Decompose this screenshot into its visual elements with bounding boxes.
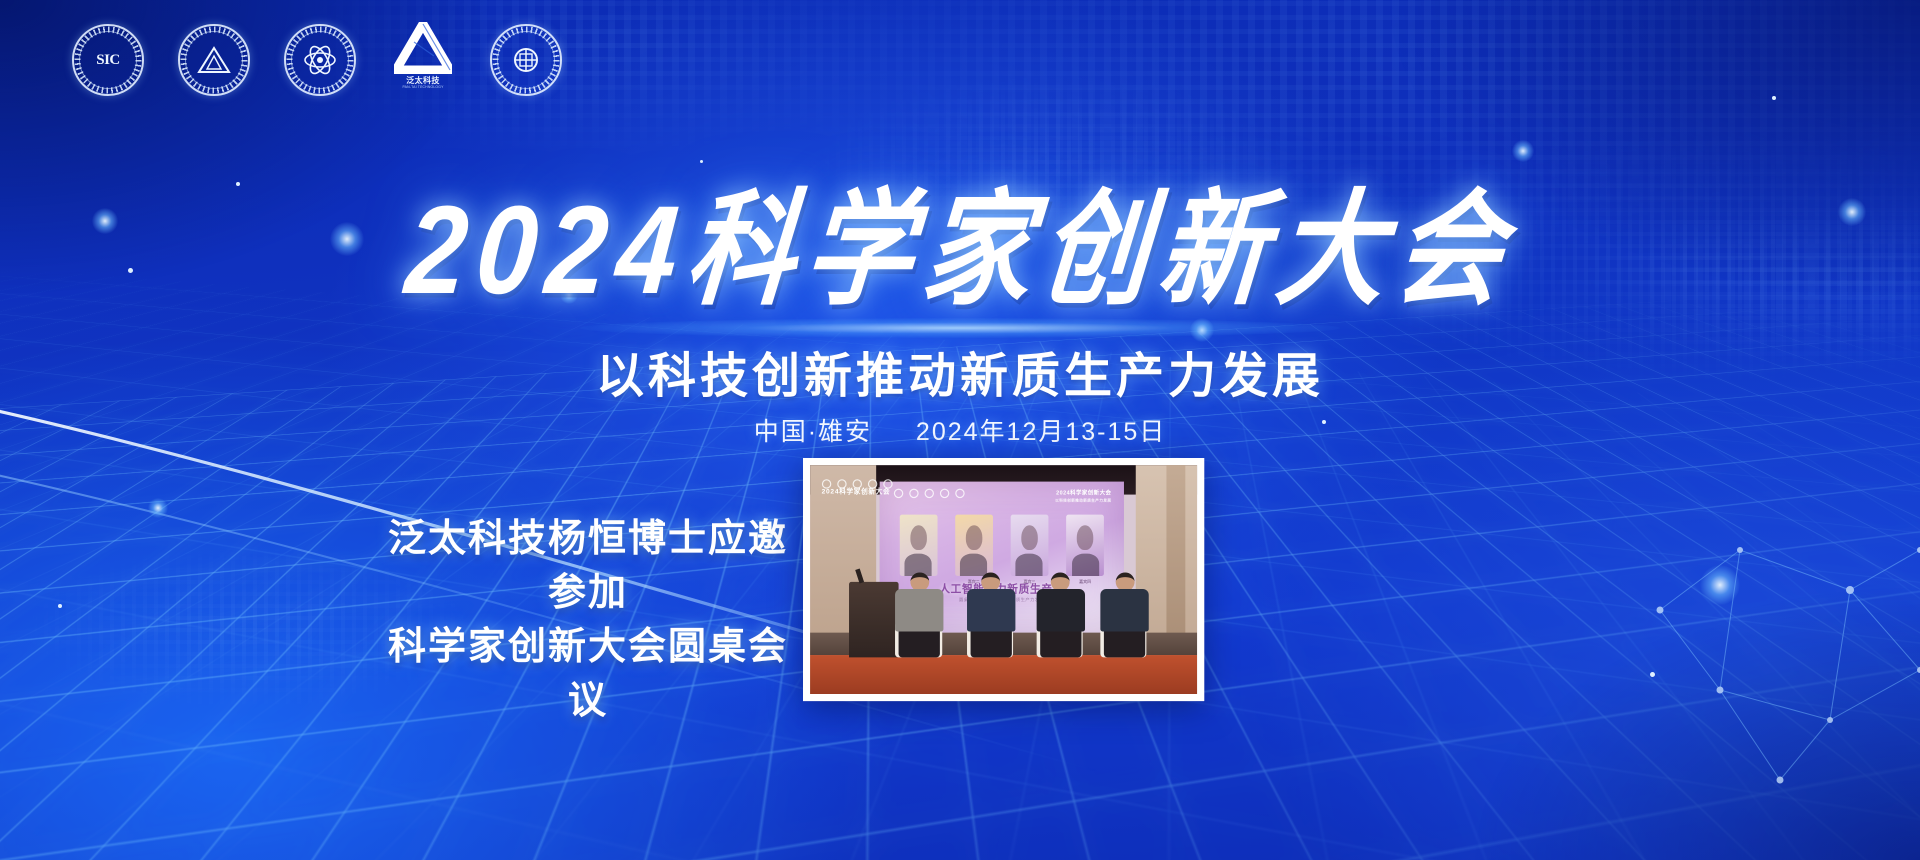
seal-logo-triangle-icon: [176, 22, 252, 98]
triangle-logo-label: 泛太科技: [406, 77, 440, 85]
triangle-logo-sanlitros-icon: 泛太科技 PAN-TAI TECHNOLOGY: [388, 22, 458, 98]
photo-person-legs: [1104, 631, 1146, 657]
photo-panelist-image: [955, 514, 993, 575]
page-title: 2024科学家创新大会: [401, 187, 1518, 312]
photo-person-legs: [970, 631, 1012, 657]
particle-dot: [236, 182, 240, 186]
caption-line-1: 泛太科技杨恒博士应邀参加: [378, 513, 798, 621]
particle-glow: [1512, 140, 1534, 162]
event-meta: 中国·雄安 2024年12月13-15日: [0, 412, 1920, 448]
triangle-logo-sublabel: PAN-TAI TECHNOLOGY: [402, 85, 443, 89]
photo-person-legs: [1040, 631, 1082, 657]
photo-stage-logo-row: [822, 479, 893, 488]
photo-panelist-image: [1011, 514, 1049, 575]
photo-screen-logo-dot: [940, 489, 949, 498]
photo-seated-person: [967, 572, 1015, 657]
particle-dot: [1772, 96, 1776, 100]
subtitle: 以科技创新推动新质生产力发展: [0, 336, 1920, 406]
event-location: 中国·雄安: [754, 418, 872, 446]
particle-dot: [58, 604, 62, 608]
photo-screen-logo-row: [894, 489, 965, 498]
photo-seated-person: [1100, 572, 1148, 657]
photo-screen-logo-dot: [925, 489, 934, 498]
photo-stage-logo-dot: [868, 479, 877, 488]
photo-podium: [849, 582, 899, 658]
photo-person-body: [1036, 589, 1084, 631]
photo-screen-logo-dot: [956, 489, 965, 498]
photo-seated-person: [895, 572, 943, 657]
event-photo: 2024科学家创新大会 2024科学家创新大会 以科技创新推动新质生产力发展: [803, 458, 1204, 701]
photo-person-body: [895, 589, 943, 631]
photo-stage-logo-dot: [822, 479, 831, 488]
photo-screen-title-line2: 以科技创新推动新质生产力发展: [1055, 498, 1111, 503]
photo-wall-column: [1166, 465, 1185, 653]
partner-logo-strip: SIC: [70, 22, 564, 98]
event-dates: 2024年12月13-15日: [916, 418, 1166, 446]
particle-glow: [148, 498, 168, 518]
headline-container: 2024科学家创新大会: [0, 196, 1920, 304]
photo-stage-logo-dot: [837, 479, 846, 488]
photo-stage-logo-dot: [852, 479, 861, 488]
photo-screen-title-line1: 2024科学家创新大会: [1055, 490, 1111, 498]
photo-screen-logo-dot: [910, 489, 919, 498]
photo-person-legs: [899, 631, 941, 657]
photo-panelist-image: [899, 514, 937, 575]
photo-screen-logo-dot: [894, 489, 903, 498]
headline-underglow: [580, 318, 1340, 338]
caption-line-2: 科学家创新大会圆桌会议: [378, 621, 798, 729]
conference-banner: SIC: [0, 0, 1920, 860]
photo-panelist-image: [1066, 514, 1104, 575]
caption-block: 泛太科技杨恒博士应邀参加 科学家创新大会圆桌会议: [378, 513, 798, 729]
photo-person-body: [967, 589, 1015, 631]
seal-logo-emblem-icon: [488, 22, 564, 98]
photo-stage-logo-dot: [883, 479, 892, 488]
triangle-mark-glyph: [394, 22, 452, 74]
photo-stage-platform: [810, 655, 1197, 694]
seal-logo-sic-icon: SIC: [70, 22, 146, 98]
particle-dot: [700, 160, 703, 163]
photo-screen-title: 2024科学家创新大会 以科技创新推动新质生产力发展: [1055, 490, 1111, 503]
photo-person-body: [1100, 589, 1148, 631]
background-node-graph: [1600, 490, 1920, 820]
seal-logo-atom-icon: [282, 22, 358, 98]
photo-seated-person: [1036, 572, 1084, 657]
